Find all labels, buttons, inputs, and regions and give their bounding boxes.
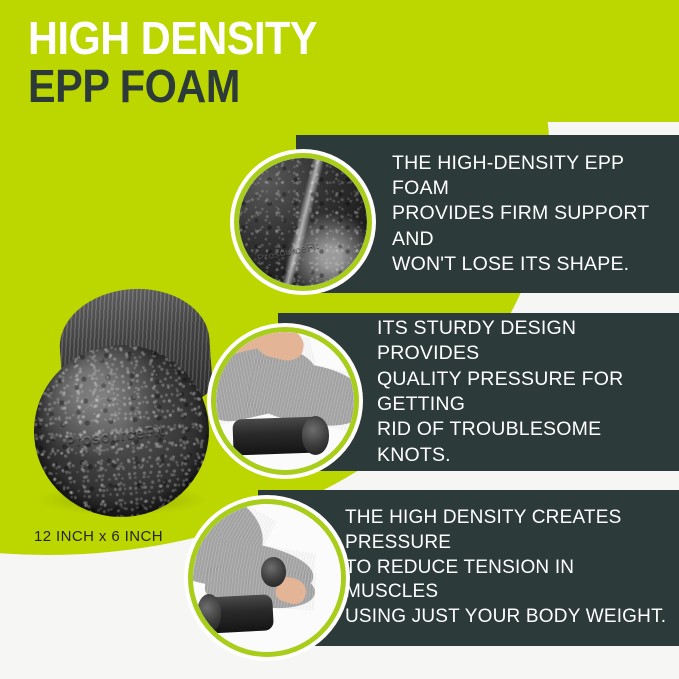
- page-title: HIGH DENSITY EPP FOAM: [28, 16, 349, 108]
- feature-text: THE HIGH-DENSITY EPP FOAM PROVIDES FIRM …: [392, 151, 667, 278]
- feature-thumbnail-thigh-rolling: [211, 327, 359, 475]
- feature-thumbnail-foam-texture: ProsourceFit: [234, 153, 372, 291]
- dimension-label: 12 INCH x 6 INCH: [34, 528, 163, 545]
- feature-thumbnail-calf-rolling: [188, 499, 346, 657]
- calf-rolling-photo: [193, 504, 341, 652]
- title-line-secondary: EPP FOAM: [28, 64, 317, 108]
- foam-roller-end-cap: [197, 594, 221, 632]
- foam-texture-closeup-photo: ProsourceFit: [239, 158, 367, 286]
- product-infographic: HIGH DENSITY EPP FOAM ProsourceFit 12 IN…: [0, 0, 679, 679]
- photo-backdrop: [193, 504, 341, 652]
- hero-product-image: ProsourceFit: [16, 285, 222, 523]
- feature-text: THE HIGH DENSITY CREATES PRESSURE TO RED…: [345, 506, 671, 629]
- foam-texture-surface: [239, 158, 367, 286]
- foam-roller-far-cap: [261, 557, 286, 587]
- thigh-rolling-photo: [216, 332, 354, 470]
- title-line-primary: HIGH DENSITY: [28, 16, 317, 60]
- foam-roller-end-cap: [302, 416, 330, 455]
- feature-text: ITS STURDY DESIGN PROVIDES QUALITY PRESS…: [377, 316, 669, 468]
- photo-backdrop: [216, 332, 354, 470]
